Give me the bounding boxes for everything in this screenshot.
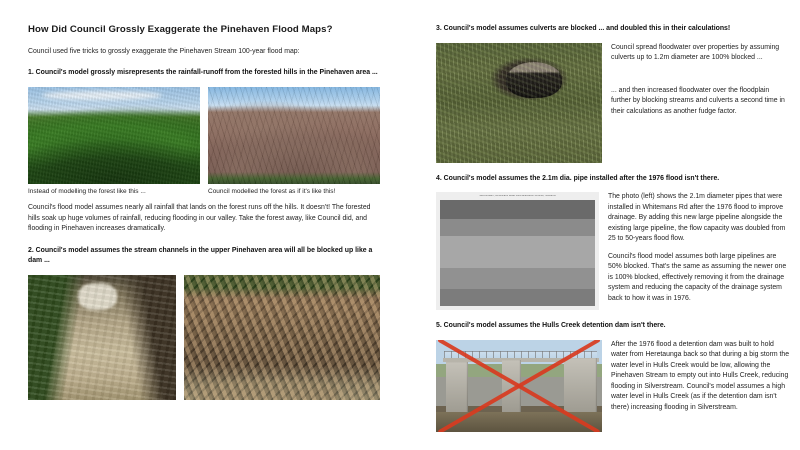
point-5-text-column: After the 1976 flood a detention dam was… xyxy=(611,340,790,432)
point-4-body-1: The photo (left) shows the 2.1m diameter… xyxy=(608,192,790,244)
point-2-image-row xyxy=(28,275,380,400)
point-4-text-column: The photo (left) shows the 2.1m diameter… xyxy=(608,192,790,310)
dam-right-wall xyxy=(564,358,597,415)
point-1-caption-row: Instead of modelling the forest like thi… xyxy=(28,187,380,196)
point-4-heading: 4. Council's model assumes the 2.1m dia.… xyxy=(436,174,790,185)
newspaper-photo-image xyxy=(440,200,595,306)
point-5-block: After the 1976 flood a detention dam was… xyxy=(436,340,790,432)
whitemans-road-pipes-photo: Silverstream, Whitemans Road flood allev… xyxy=(436,192,599,310)
point-3-body-1: Council spread floodwater over propertie… xyxy=(611,43,790,64)
point-3-text-column: Council spread floodwater over propertie… xyxy=(611,43,790,163)
point-3-heading: 3. Council's model assumes culverts are … xyxy=(436,24,790,35)
point-2-heading: 2. Council's model assumes the stream ch… xyxy=(28,246,380,267)
intro-paragraph: Council used five tricks to grossly exag… xyxy=(28,47,380,57)
point-3-body-2: ... and then increased floodwater over t… xyxy=(611,86,790,117)
point-1-caption-right: Council modelled the forest as if it's l… xyxy=(208,187,380,196)
point-5-heading: 5. Council's model assumes the Hulls Cre… xyxy=(436,321,790,332)
logjam-pool xyxy=(200,380,337,400)
point-4-block: Silverstream, Whitemans Road flood allev… xyxy=(436,192,790,310)
hulls-creek-detention-dam-photo xyxy=(436,340,602,432)
point-1-heading: 1. Council's model grossly misrepresents… xyxy=(28,68,380,79)
stream-froth xyxy=(78,283,116,311)
hill-base-scrub xyxy=(208,172,380,184)
page-title: How Did Council Grossly Exaggerate the P… xyxy=(28,24,380,36)
page-left: How Did Council Grossly Exaggerate the P… xyxy=(0,0,398,450)
newspaper-photo-caption: Silverstream, Whitemans Road flood allev… xyxy=(440,195,595,198)
culvert-opening xyxy=(506,62,562,98)
log-jam-photo xyxy=(184,275,380,400)
flowing-stream-photo xyxy=(28,275,176,400)
dam-left-wall xyxy=(446,362,468,415)
point-1-caption-left: Instead of modelling the forest like thi… xyxy=(28,187,200,196)
point-4-body-2: Council's flood model assumes both large… xyxy=(608,252,790,304)
point-5-body: After the 1976 flood a detention dam was… xyxy=(611,340,790,413)
culvert-pipe-photo xyxy=(436,43,602,163)
document-spread: How Did Council Grossly Exaggerate the P… xyxy=(0,0,800,450)
point-1-image-row xyxy=(28,87,380,184)
bare-hill-photo xyxy=(208,87,380,184)
point-1-body: Council's flood model assumes nearly all… xyxy=(28,203,380,234)
point-3-block: Council spread floodwater over propertie… xyxy=(436,43,790,163)
forested-hill-photo xyxy=(28,87,200,184)
page-right: 3. Council's model assumes culverts are … xyxy=(398,0,800,450)
sky-cloud xyxy=(42,91,162,100)
